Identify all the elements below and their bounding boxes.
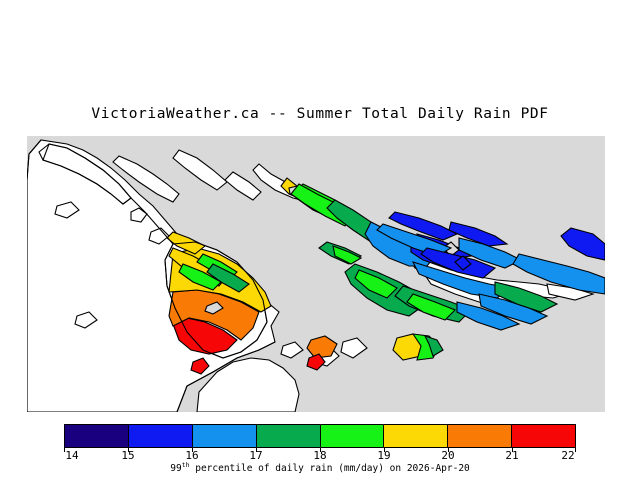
weather-map-page: VictoriaWeather.ca -- Summer Total Daily… — [0, 0, 640, 480]
gulf-island-land-c — [173, 150, 227, 190]
colorbar-segment-14-15[interactable] — [65, 425, 129, 447]
colorbar[interactable] — [64, 424, 576, 448]
caption-number: 99 — [170, 463, 181, 474]
colorbar-segment-17-18[interactable] — [257, 425, 321, 447]
south-islet-c — [281, 342, 303, 358]
caption-text: percentile of daily rain (mm/day) on 202… — [190, 463, 470, 474]
page-title: VictoriaWeather.ca -- Summer Total Daily… — [0, 106, 640, 122]
colorbar-segment-21-22[interactable] — [512, 425, 575, 447]
region-east-blue-c — [561, 228, 605, 260]
map-panel[interactable] — [27, 136, 605, 412]
caption-ordinal-suffix: th — [182, 461, 190, 469]
land-layer — [27, 140, 593, 412]
map-canvas[interactable] — [27, 136, 605, 412]
colorbar-segment-15-16[interactable] — [129, 425, 193, 447]
colorbar-segment-19-20[interactable] — [384, 425, 448, 447]
colorbar-caption: 99th percentile of daily rain (mm/day) o… — [0, 461, 640, 474]
south-islet-b — [341, 338, 367, 358]
colorbar-segment-20-21[interactable] — [448, 425, 512, 447]
gulf-island-land-d — [225, 172, 261, 200]
colorbar-segments[interactable] — [64, 424, 576, 448]
precip-shading-layer — [167, 178, 605, 374]
colorbar-segment-16-17[interactable] — [193, 425, 257, 447]
colorbar-segment-18-19[interactable] — [321, 425, 385, 447]
